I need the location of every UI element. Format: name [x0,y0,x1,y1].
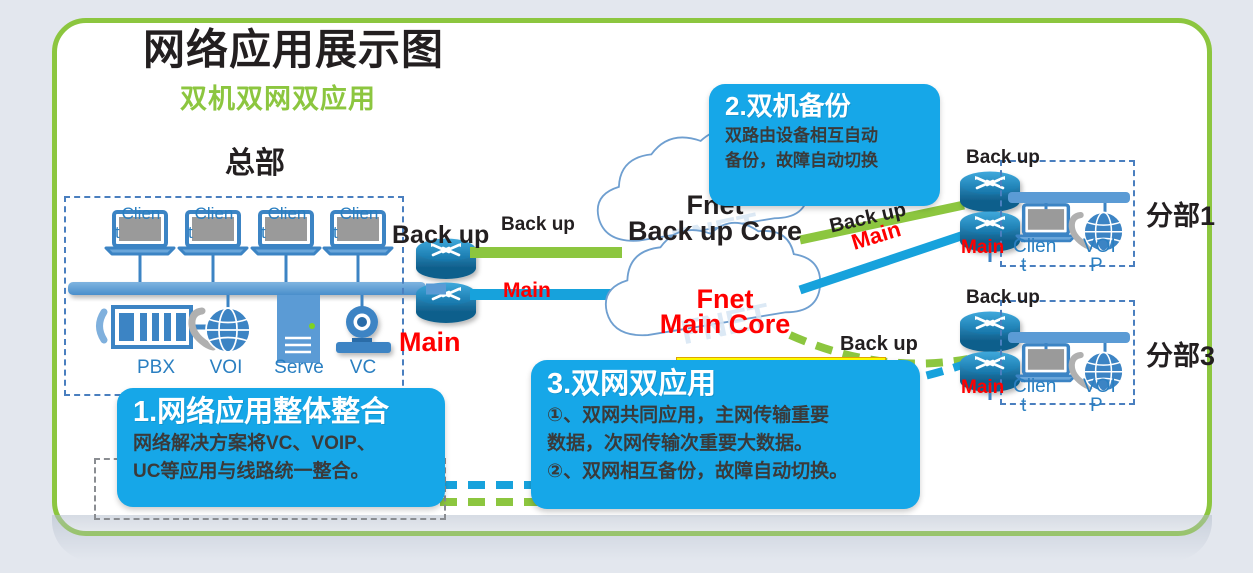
hq-backup-link-label: Back up [501,215,575,235]
diagram-canvas: FNET FNET [0,0,1253,573]
hq-main-router-label: Main [399,328,461,356]
callout-2-body-line-1: 双路由设备相互自动 [725,125,924,147]
branch1-client-label2: t [1021,256,1061,276]
branch3-voip-label: VOI [1083,377,1133,397]
branch1-voip-label2: P [1090,256,1120,276]
callout-3-body-line-3: ②、双网相互备份，故障自动切换。 [547,460,904,485]
page-subtitle: 双机双网双应用 [180,85,376,113]
branch1-client-label: Clien [1013,237,1073,257]
hq-client-1-label2: t [115,224,167,242]
branch3-title: 分部3 [1146,342,1215,370]
hq-client-4-label: Clien [333,205,385,223]
hq-client-2-label: Clien [188,205,240,223]
cloud-backup-line2: Back up Core [600,218,830,246]
hq-server-label: Serve [266,358,332,378]
callout-3-body-line-1: ①、双网共同应用，主网传输重要 [547,404,904,429]
branch3-main-router-label: Main [961,378,1004,398]
cloud-main-line2: Main Core [610,311,840,339]
hq-client-3-label2: t [261,224,313,242]
hq-vc-label: VC [340,358,386,378]
callout-1-body-line-1: 网络解决方案将VC、VOIP、 [133,432,429,457]
hq-routers [416,239,476,324]
callout-2-body-line-2: 备份，故障自动切换 [725,150,924,172]
callout-1-body-line-2: UC等应用与线路统一整合。 [133,460,429,485]
callout-3[interactable]: 3.双网双应用 ①、双网共同应用，主网传输重要 数据，次网传输次重要大数据。 ②… [531,360,920,509]
hq-main-link-label: Main [503,280,551,302]
callout-2-heading: 2.双机备份 [725,92,924,122]
branch1-main-router-label: Main [961,238,1004,258]
headquarters-label: 总部 [225,148,285,180]
hq-backup-link [470,247,622,258]
callout-1-heading: 1.网络应用整体整合 [133,396,429,429]
hq-voip-label: VOI [200,358,252,378]
branch3-client-label2: t [1021,396,1061,416]
callout-3-body-line-2: 数据，次网传输次重要大数据。 [547,432,904,457]
branch1-voip-label: VOI [1083,237,1133,257]
hq-client-1-label: Clien [115,205,167,223]
branch3-client-label: Clien [1013,377,1073,397]
callout-1[interactable]: 1.网络应用整体整合 网络解决方案将VC、VOIP、 UC等应用与线路统一整合。 [117,388,445,507]
page-title: 网络应用展示图 [143,28,444,72]
callout-3-heading: 3.双网双应用 [547,368,904,401]
branch3-backup-link-label: Back up [840,334,918,355]
branch1-title: 分部1 [1146,202,1215,230]
hq-client-4-label2: t [333,224,385,242]
hq-pbx-label: PBX [128,358,184,378]
branch3-voip-label2: P [1090,396,1120,416]
hq-backup-router-label: Back up [392,222,489,248]
callout-2[interactable]: 2.双机备份 双路由设备相互自动 备份，故障自动切换 [709,84,940,206]
hq-client-2-label2: t [188,224,240,242]
branch1-backup-router-label: Back up [966,148,1040,168]
hq-client-3-label: Clien [261,205,313,223]
branch3-backup-router-label: Back up [966,288,1040,308]
